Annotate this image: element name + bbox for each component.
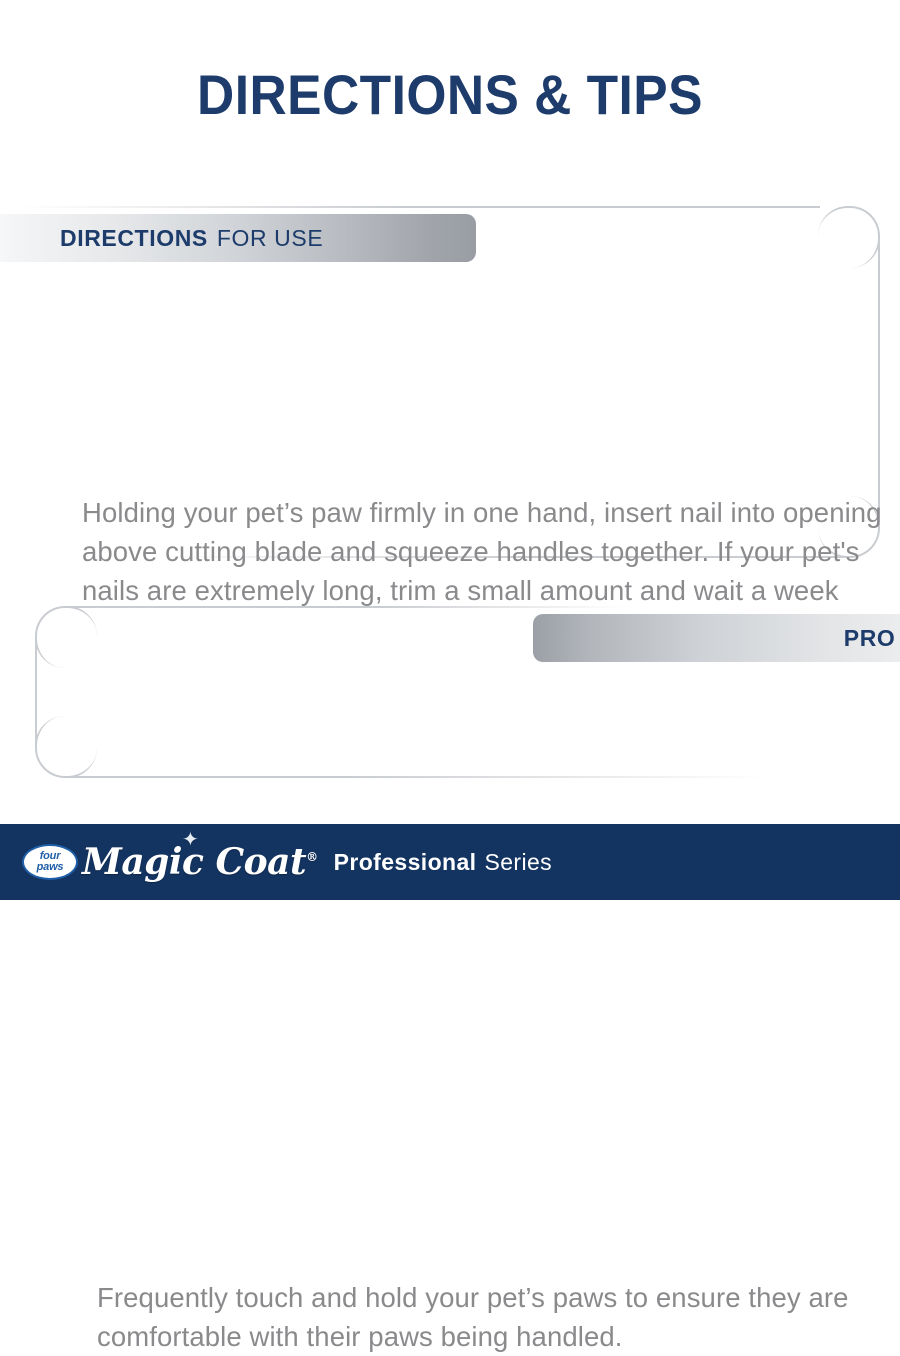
card-border-top <box>20 206 820 208</box>
protip-border-left <box>35 636 37 748</box>
protip-border-bottom <box>65 776 765 778</box>
four-paws-line2: paws <box>37 862 64 873</box>
tab-pro-tip-label: PRO TIP <box>844 625 900 652</box>
card-corner-top-right <box>818 206 880 268</box>
tab-directions-strong-label: DIRECTIONS <box>60 225 208 252</box>
tab-directions-light-label: FOR USE <box>217 225 323 252</box>
professional-label: Professional <box>334 849 477 875</box>
card-border-right <box>878 236 880 528</box>
sparkle-icon: ✦ <box>182 829 198 849</box>
registered-trademark-icon: ® <box>306 850 318 864</box>
page-root: DIRECTIONS & TIPS Holding your pet’s paw… <box>0 0 900 900</box>
protip-corner-bottom-left <box>35 716 97 778</box>
professional-series-label: ProfessionalSeries <box>334 849 552 876</box>
footer-logo-group: four paws ✦ Magic Coat® ProfessionalSeri… <box>22 841 552 883</box>
protip-border-top <box>65 606 625 608</box>
brand-footer: four paws ✦ Magic Coat® ProfessionalSeri… <box>0 824 900 900</box>
tab-directions-for-use: DIRECTIONS FOR USE <box>0 214 476 262</box>
protip-corner-top-left <box>35 606 97 668</box>
series-label: Series <box>484 849 552 875</box>
four-paws-logo-icon: four paws <box>22 844 78 880</box>
protip-body-text: Frequently touch and hold your pet’s paw… <box>97 1278 887 1356</box>
magic-coat-wordmark: ✦ Magic Coat® <box>82 841 318 883</box>
tab-pro-tip: PRO TIP <box>533 614 900 662</box>
page-title: DIRECTIONS & TIPS <box>36 62 864 127</box>
